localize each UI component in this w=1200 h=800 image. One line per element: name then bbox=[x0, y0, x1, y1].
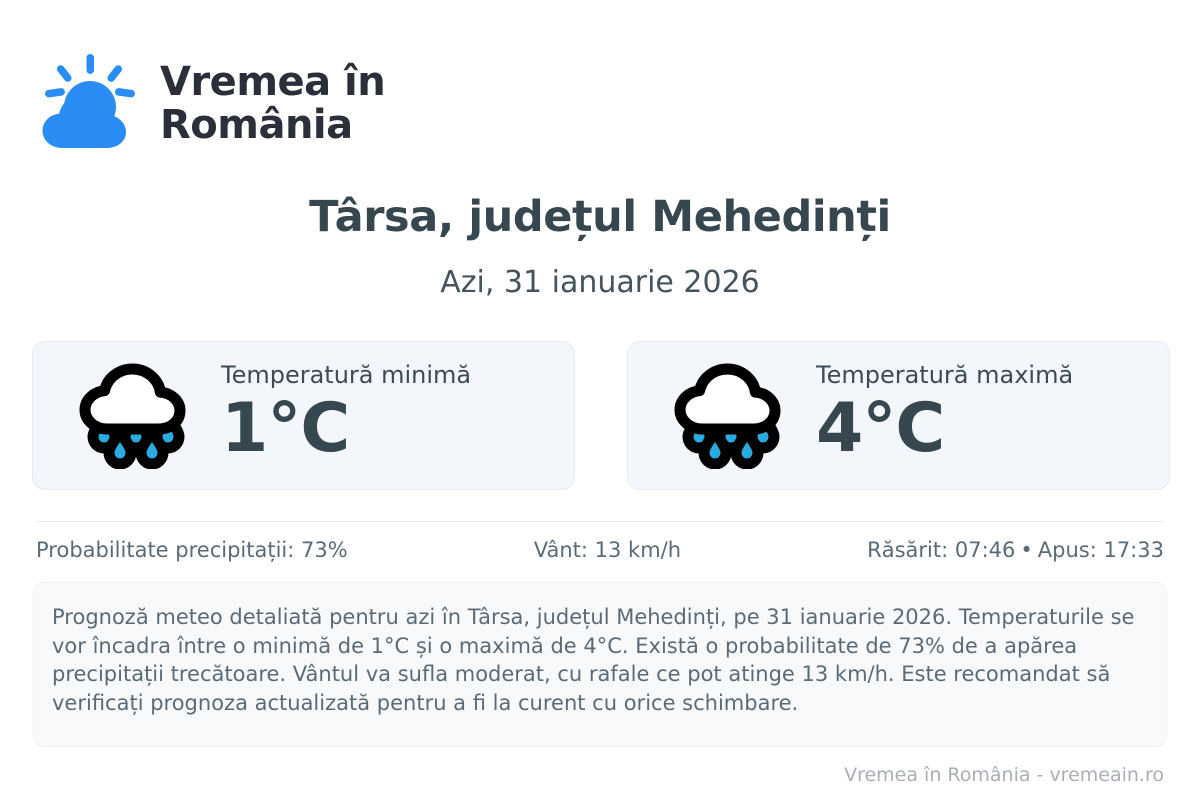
max-temperature-value: 4°C bbox=[816, 392, 1073, 465]
rain-cloud-icon bbox=[672, 363, 790, 469]
forecast-description: Prognoză meteo detaliată pentru azi în T… bbox=[33, 582, 1167, 747]
brand-name-line2: România bbox=[160, 104, 385, 147]
wind-stat: Vânt: 13 km/h bbox=[534, 538, 681, 562]
max-temperature-label: Temperatură maximă bbox=[816, 361, 1073, 390]
min-temperature-label: Temperatură minimă bbox=[221, 361, 471, 390]
max-temperature-card: Temperatură maximă 4°C bbox=[627, 341, 1170, 490]
max-temperature-body: Temperatură maximă 4°C bbox=[816, 361, 1073, 465]
sun-times-stat: Răsărit: 07:46•Apus: 17:33 bbox=[867, 538, 1164, 562]
sun-behind-cloud-icon bbox=[36, 52, 142, 156]
rain-cloud-icon bbox=[77, 363, 195, 469]
min-temperature-value: 1°C bbox=[221, 392, 471, 465]
sunrise-value: Răsărit: 07:46 bbox=[867, 538, 1015, 562]
sun-times-separator: • bbox=[1015, 538, 1037, 562]
min-temperature-body: Temperatură minimă 1°C bbox=[221, 361, 471, 465]
stats-divider bbox=[36, 521, 1164, 522]
brand-logo[interactable]: Vremea în România bbox=[36, 52, 385, 156]
page-subtitle: Azi, 31 ianuarie 2026 bbox=[0, 265, 1200, 300]
stats-row: Probabilitate precipitații: 73% Vânt: 13… bbox=[36, 538, 1164, 562]
sunset-value: Apus: 17:33 bbox=[1038, 538, 1164, 562]
page-title: Târsa, județul Mehedinți bbox=[0, 192, 1200, 242]
footer-credit: Vremea în România - vremeain.ro bbox=[844, 764, 1164, 786]
precipitation-stat: Probabilitate precipitații: 73% bbox=[36, 538, 348, 562]
brand-name: Vremea în România bbox=[160, 61, 385, 147]
min-temperature-card: Temperatură minimă 1°C bbox=[32, 341, 575, 490]
brand-name-line1: Vremea în bbox=[160, 61, 385, 104]
weather-page: Vremea în România Târsa, județul Mehedin… bbox=[0, 0, 1200, 800]
temperature-cards: Temperatură minimă 1°C Temperatură maxim… bbox=[32, 341, 1170, 490]
